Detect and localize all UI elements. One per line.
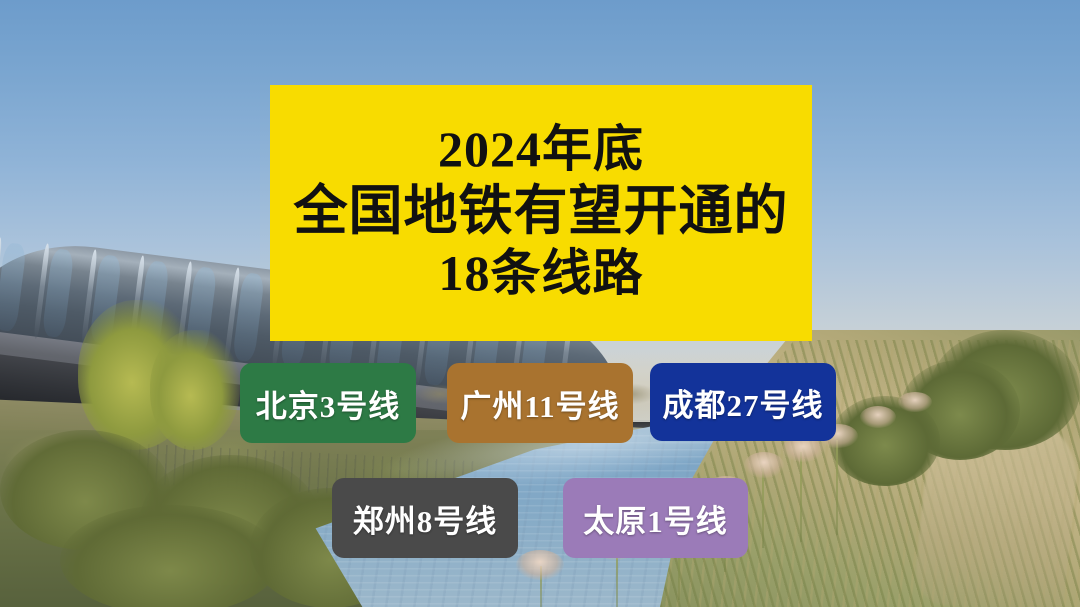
reed-plume	[516, 550, 564, 580]
reed-stalk	[836, 440, 838, 535]
line-tag-chengdu-27[interactable]: 成都27号线	[650, 363, 836, 441]
line-tag-beijing-3[interactable]: 北京3号线	[240, 363, 416, 443]
reed-plume	[898, 392, 932, 412]
reed-stalk	[800, 452, 802, 542]
reed-plume	[860, 406, 896, 428]
reed-stalk	[762, 468, 764, 548]
line-tag-guangzhou-11[interactable]: 广州11号线	[447, 363, 633, 443]
line-tag-taiyuan-1[interactable]: 太原1号线	[563, 478, 748, 558]
poster-canvas: 2024年底 全国地铁有望开通的 18条线路 北京3号线 广州11号线 成都27…	[0, 0, 1080, 607]
title-line-2: 全国地铁有望开通的	[294, 181, 789, 241]
title-line-1: 2024年底	[438, 121, 644, 177]
line-tag-zhengzhou-8[interactable]: 郑州8号线	[332, 478, 518, 558]
reed-plume	[744, 452, 784, 478]
shrub	[60, 505, 280, 607]
title-line-3: 18条线路	[439, 245, 644, 301]
title-banner: 2024年底 全国地铁有望开通的 18条线路	[270, 85, 812, 341]
